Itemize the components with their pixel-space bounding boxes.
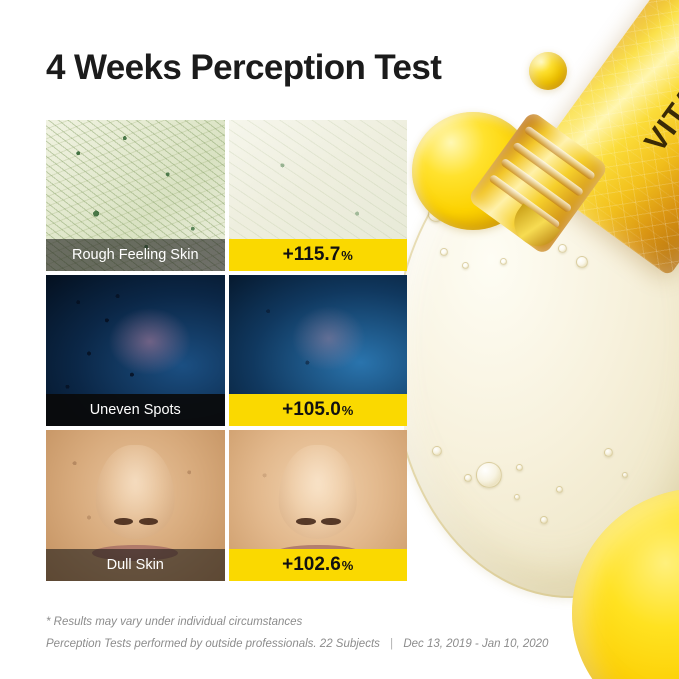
bubble-icon xyxy=(500,258,507,265)
bubble-icon xyxy=(540,516,548,524)
bubble-icon xyxy=(464,474,472,482)
improvement-badge: +115.7 % xyxy=(229,239,408,271)
oil-drop-icon xyxy=(529,52,567,90)
bubble-icon xyxy=(558,244,567,253)
bubble-icon xyxy=(576,256,588,268)
before-cell-dull-skin: Dull Skin xyxy=(46,430,225,581)
footnote-study-info: Perception Tests performed by outside pr… xyxy=(46,634,548,656)
bubble-icon xyxy=(514,494,520,500)
after-cell-uneven-spots: +105.0 % xyxy=(229,275,408,426)
nose-shape xyxy=(278,445,357,539)
nostril-shape xyxy=(321,518,341,526)
bubble-icon xyxy=(622,472,628,478)
footnotes: * Results may vary under individual circ… xyxy=(46,612,548,656)
improvement-badge: +102.6 % xyxy=(229,549,408,581)
page-title: 4 Weeks Perception Test xyxy=(46,48,441,88)
after-cell-rough-feeling-skin: +115.7 % xyxy=(229,120,408,271)
footnote-study-dates: Dec 13, 2019 - Jan 10, 2020 xyxy=(403,638,548,650)
footnote-divider: | xyxy=(390,638,393,650)
before-after-comparison-grid: Rough Feeling Skin +115.7 % Uneven Spots xyxy=(46,120,407,581)
product-photography: VITAPAIR C FACIAL SERUM xyxy=(404,0,679,679)
bubble-icon xyxy=(440,248,448,256)
improvement-unit: % xyxy=(341,248,353,263)
comparison-row: Dull Skin +102.6 % xyxy=(46,430,407,581)
improvement-badge: +105.0 % xyxy=(229,394,408,426)
concern-label-bar: Dull Skin xyxy=(46,549,225,581)
bubble-icon xyxy=(462,262,469,269)
improvement-value: +115.7 xyxy=(283,244,341,266)
improvement-unit: % xyxy=(342,403,354,418)
concern-label-bar: Rough Feeling Skin xyxy=(46,239,225,271)
footnote-study-text: Perception Tests performed by outside pr… xyxy=(46,638,380,650)
concern-label: Dull Skin xyxy=(107,557,164,573)
comparison-row: Rough Feeling Skin +115.7 % xyxy=(46,120,407,271)
bubble-icon xyxy=(604,448,613,457)
bubble-icon xyxy=(516,464,523,471)
before-cell-rough-feeling-skin: Rough Feeling Skin xyxy=(46,120,225,271)
bubble-icon xyxy=(476,462,502,488)
comparison-row: Uneven Spots +105.0 % xyxy=(46,275,407,426)
bubble-icon xyxy=(432,446,442,456)
concern-label: Uneven Spots xyxy=(90,402,181,418)
improvement-unit: % xyxy=(342,558,354,573)
before-cell-uneven-spots: Uneven Spots xyxy=(46,275,225,426)
improvement-value: +105.0 xyxy=(282,399,341,421)
bubble-icon xyxy=(556,486,563,493)
concern-label-bar: Uneven Spots xyxy=(46,394,225,426)
footnote-disclaimer: * Results may vary under individual circ… xyxy=(46,612,548,634)
concern-label: Rough Feeling Skin xyxy=(72,247,199,263)
nose-shape xyxy=(96,445,175,539)
nostril-shape xyxy=(296,518,316,526)
promo-graphic: VITAPAIR C FACIAL SERUM 4 Weeks Percepti… xyxy=(0,0,679,679)
improvement-value: +102.6 xyxy=(282,554,341,576)
after-cell-dull-skin: +102.6 % xyxy=(229,430,408,581)
